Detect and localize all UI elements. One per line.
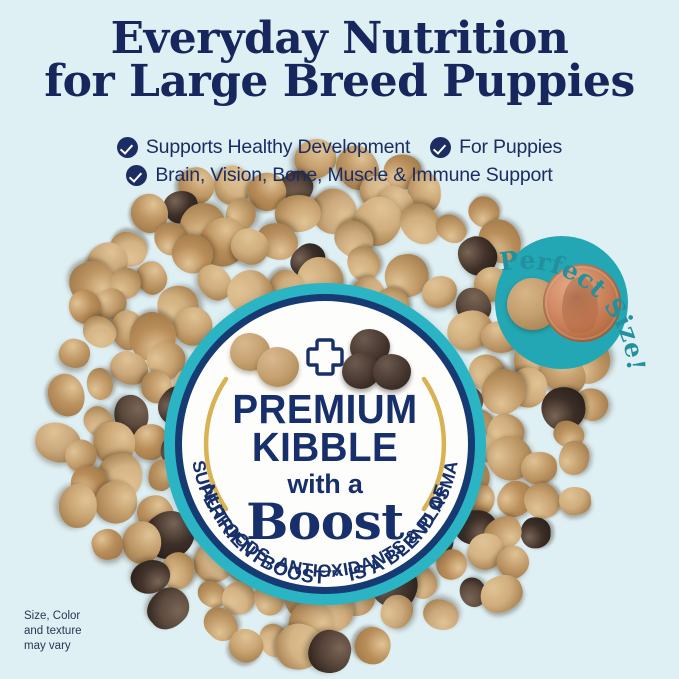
kibble-piece [88, 525, 125, 563]
kibble-piece [59, 483, 98, 527]
product-infographic: Everyday Nutrition for Large Breed Puppi… [0, 0, 679, 679]
benefit-row-1: Supports Healthy Development For Puppies [0, 136, 679, 159]
kibble-piece [558, 486, 593, 516]
check-circle-icon [126, 165, 147, 186]
perfect-size-arc-text: Perfect Size! [477, 210, 667, 400]
page-title: Everyday Nutrition for Large Breed Puppi… [0, 18, 679, 103]
benefit-item-supports-healthy-development: Supports Healthy Development [117, 136, 410, 159]
kibble-piece [44, 369, 90, 420]
disclaimer-line-1: Size, Color [24, 609, 82, 624]
kibble-piece [349, 621, 397, 670]
seal-arc-text: NUTRIENTBOOST™ IS A BLEND OF SUPERFOODS,… [164, 283, 486, 605]
kibble-piece [521, 517, 551, 549]
benefit-item-brain-vision-bone: Brain, Vision, Bone, Muscle & Immune Sup… [126, 164, 552, 187]
disclaimer-line-2: and texture [24, 624, 82, 639]
benefit-label: Brain, Vision, Bone, Muscle & Immune Sup… [155, 164, 552, 187]
perfect-size-badge: Perfect Size! [495, 236, 628, 369]
benefit-row-2: Brain, Vision, Bone, Muscle & Immune Sup… [0, 164, 679, 187]
perfect-size-label: Perfect Size! [498, 245, 651, 371]
check-circle-icon [117, 137, 138, 158]
disclaimer-text: Size, Color and texture may vary [24, 609, 82, 655]
premium-kibble-seal: PREMIUM KIBBLE with a Boost NUTRIENTBOOS… [164, 283, 486, 605]
check-circle-icon [430, 137, 451, 158]
headline-line-1: Everyday Nutrition [0, 18, 679, 61]
kibble-piece [521, 451, 558, 485]
benefit-label: For Puppies [459, 136, 562, 159]
headline-line-2: for Large Breed Puppies [0, 61, 679, 104]
benefit-item-for-puppies: For Puppies [430, 136, 562, 159]
benefit-label: Supports Healthy Development [146, 136, 410, 159]
seal-arc-line-2: SUPERFOODS, ANTIOXIDANTS & PLASMA [188, 459, 462, 581]
disclaimer-line-3: may vary [24, 639, 82, 654]
benefit-list: Supports Healthy Development For Puppies… [0, 136, 679, 192]
